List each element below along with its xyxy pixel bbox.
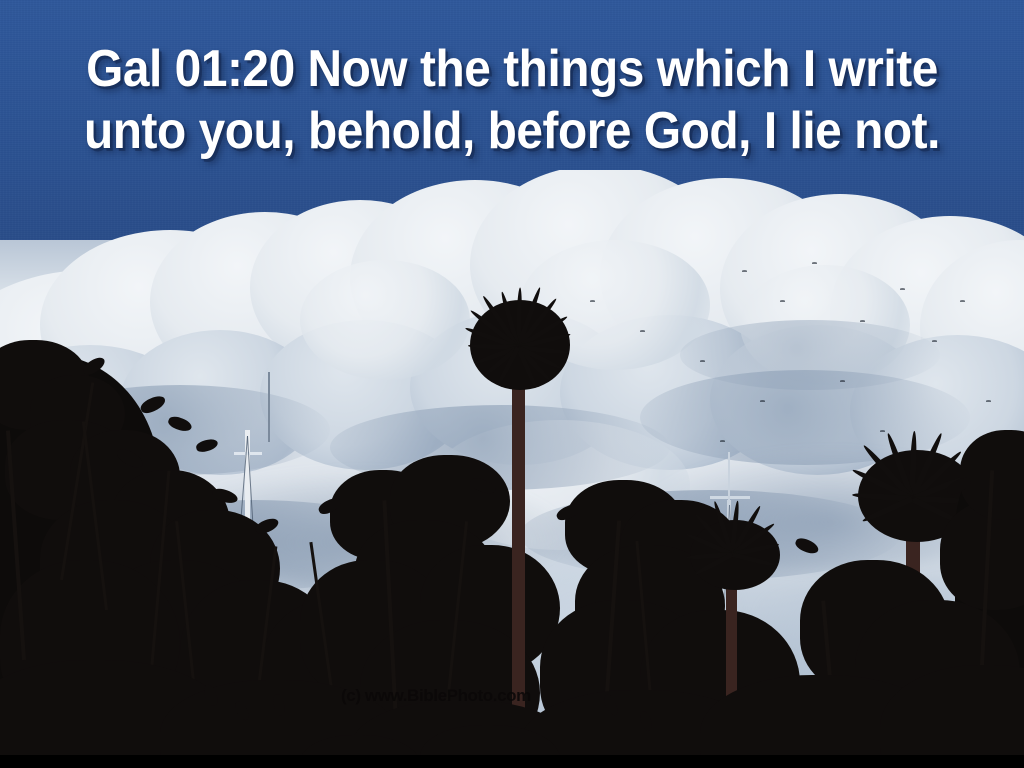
watermark-credit: (c) www.BiblePhoto.com [341, 686, 531, 706]
distant-ridge-haze [150, 470, 570, 590]
bird-speck [932, 340, 937, 342]
cloud-haze [0, 570, 420, 730]
bird-speck [742, 270, 747, 272]
verse-line-2: unto you, behold, before God, I lie not. [41, 100, 983, 162]
bird-speck [880, 430, 885, 432]
bottom-black-bar [0, 755, 1024, 768]
bird-speck [760, 400, 765, 402]
scripture-verse-overlay: Gal 01:20 Now the things which I write u… [41, 38, 983, 162]
cloud-highlight [300, 260, 470, 380]
cloud-shadow [30, 385, 330, 475]
bird-speck [986, 400, 991, 402]
bird-speck [640, 330, 645, 332]
verse-line-1: Gal 01:20 Now the things which I write [41, 38, 983, 100]
cloud-shadow [680, 320, 940, 390]
distant-ridge-haze [640, 450, 1020, 570]
scripture-photo-canvas: (c) www.BiblePhoto.com Gal 01:20 Now the… [0, 0, 1024, 768]
bird-speck [860, 320, 865, 322]
mast-antenna-left [268, 372, 270, 442]
mast-antenna-right [728, 452, 730, 504]
mast-spreader-right [710, 496, 750, 499]
bird-speck [700, 360, 705, 362]
bird-speck [780, 300, 785, 302]
bird-speck [960, 300, 965, 302]
bird-speck [720, 440, 725, 442]
bird-speck [840, 380, 845, 382]
bird-speck [900, 288, 905, 290]
bird-speck [590, 300, 595, 302]
bird-speck [812, 262, 817, 264]
